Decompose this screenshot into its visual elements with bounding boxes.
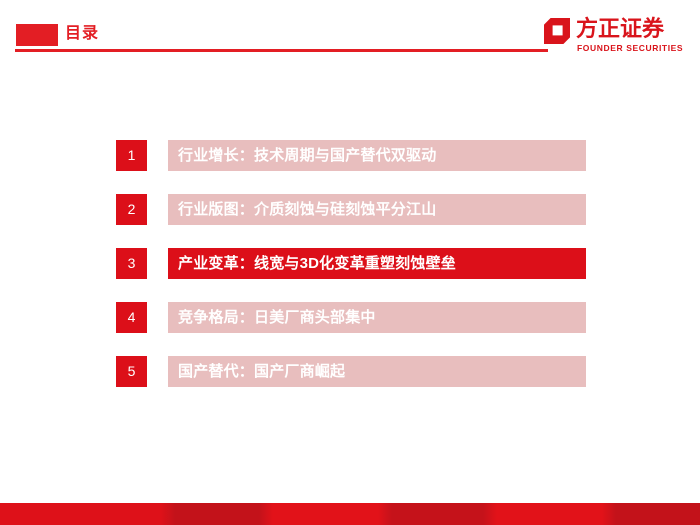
table-of-contents: 1 行业增长：技术周期与国产替代双驱动 2 行业版图：介质刻蚀与硅刻蚀平分江山 … — [0, 0, 700, 525]
toc-number-badge: 4 — [116, 302, 147, 333]
footer-accent-bar — [0, 503, 700, 525]
toc-number-badge: 3 — [116, 248, 147, 279]
toc-label-bar[interactable]: 竞争格局：日美厂商头部集中 — [168, 302, 586, 333]
toc-item-label: 行业增长：技术周期与国产替代双驱动 — [178, 140, 586, 171]
toc-item-label: 竞争格局：日美厂商头部集中 — [178, 302, 586, 333]
toc-item-label: 国产替代：国产厂商崛起 — [178, 356, 586, 387]
toc-label-bar[interactable]: 行业版图：介质刻蚀与硅刻蚀平分江山 — [168, 194, 586, 225]
toc-item-label: 产业变革：线宽与3D化变革重塑刻蚀壁垒 — [178, 248, 586, 279]
toc-label-bar[interactable]: 行业增长：技术周期与国产替代双驱动 — [168, 140, 586, 171]
toc-item-2[interactable]: 2 行业版图：介质刻蚀与硅刻蚀平分江山 — [116, 194, 586, 225]
toc-item-1[interactable]: 1 行业增长：技术周期与国产替代双驱动 — [116, 140, 586, 171]
toc-label-bar-active[interactable]: 产业变革：线宽与3D化变革重塑刻蚀壁垒 — [168, 248, 586, 279]
slide-canvas: 目录 方正证券 FOUNDER SECURITIES 1 行业增长：技术周期与国… — [0, 0, 700, 525]
toc-item-4[interactable]: 4 竞争格局：日美厂商头部集中 — [116, 302, 586, 333]
toc-label-bar[interactable]: 国产替代：国产厂商崛起 — [168, 356, 586, 387]
toc-number-badge: 5 — [116, 356, 147, 387]
toc-item-5[interactable]: 5 国产替代：国产厂商崛起 — [116, 356, 586, 387]
toc-number-badge: 1 — [116, 140, 147, 171]
toc-item-label: 行业版图：介质刻蚀与硅刻蚀平分江山 — [178, 194, 586, 225]
toc-number-badge: 2 — [116, 194, 147, 225]
toc-item-3[interactable]: 3 产业变革：线宽与3D化变革重塑刻蚀壁垒 — [116, 248, 586, 279]
